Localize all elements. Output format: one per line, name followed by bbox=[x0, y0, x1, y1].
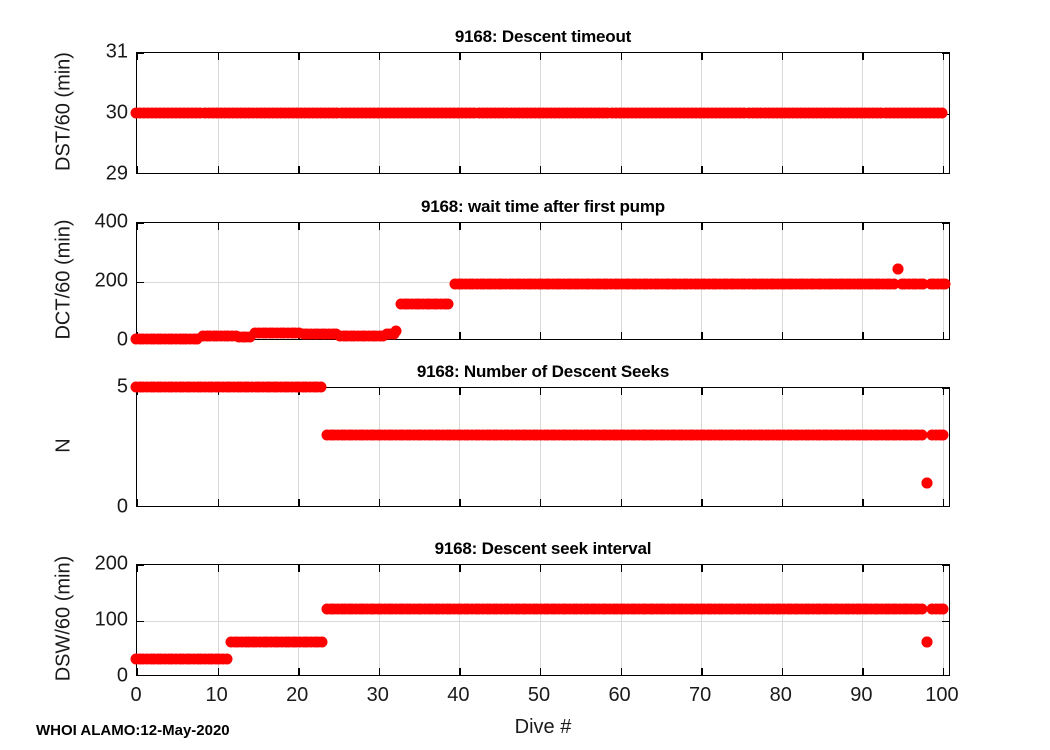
x-tick-label: 70 bbox=[689, 684, 711, 707]
figure-footer: WHOI ALAMO:12-May-2020 bbox=[36, 722, 230, 739]
x-tick-label: 100 bbox=[925, 684, 958, 707]
x-tick-label: 30 bbox=[367, 684, 389, 707]
x-axis-label: Dive # bbox=[136, 716, 950, 739]
data-point bbox=[316, 637, 327, 648]
y-tick-label: 0 bbox=[76, 665, 128, 688]
data-layer-4 bbox=[136, 564, 950, 676]
x-tick-label: 20 bbox=[286, 684, 308, 707]
data-point bbox=[916, 603, 927, 614]
y-axis-label-4: DSW/60 (min) bbox=[53, 503, 76, 735]
x-tick-label: 80 bbox=[770, 684, 792, 707]
panel-title-4: 9168: Descent seek interval bbox=[136, 539, 950, 559]
chart-panel-4: 9168: Descent seek interval0100200010203… bbox=[0, 0, 1050, 750]
data-point bbox=[938, 603, 949, 614]
x-tick-label: 10 bbox=[205, 684, 227, 707]
x-tick-label: 60 bbox=[608, 684, 630, 707]
x-tick-label: 40 bbox=[447, 684, 469, 707]
y-tick-label: 200 bbox=[76, 553, 128, 576]
y-tick-label: 100 bbox=[76, 609, 128, 632]
x-tick-label: 0 bbox=[130, 684, 141, 707]
data-point bbox=[221, 654, 232, 665]
x-tick-label: 50 bbox=[528, 684, 550, 707]
figure-canvas: 9168: Descent timeout293031DST/60 (min)9… bbox=[0, 0, 1050, 750]
x-tick-label: 90 bbox=[850, 684, 872, 707]
data-point bbox=[922, 637, 933, 648]
